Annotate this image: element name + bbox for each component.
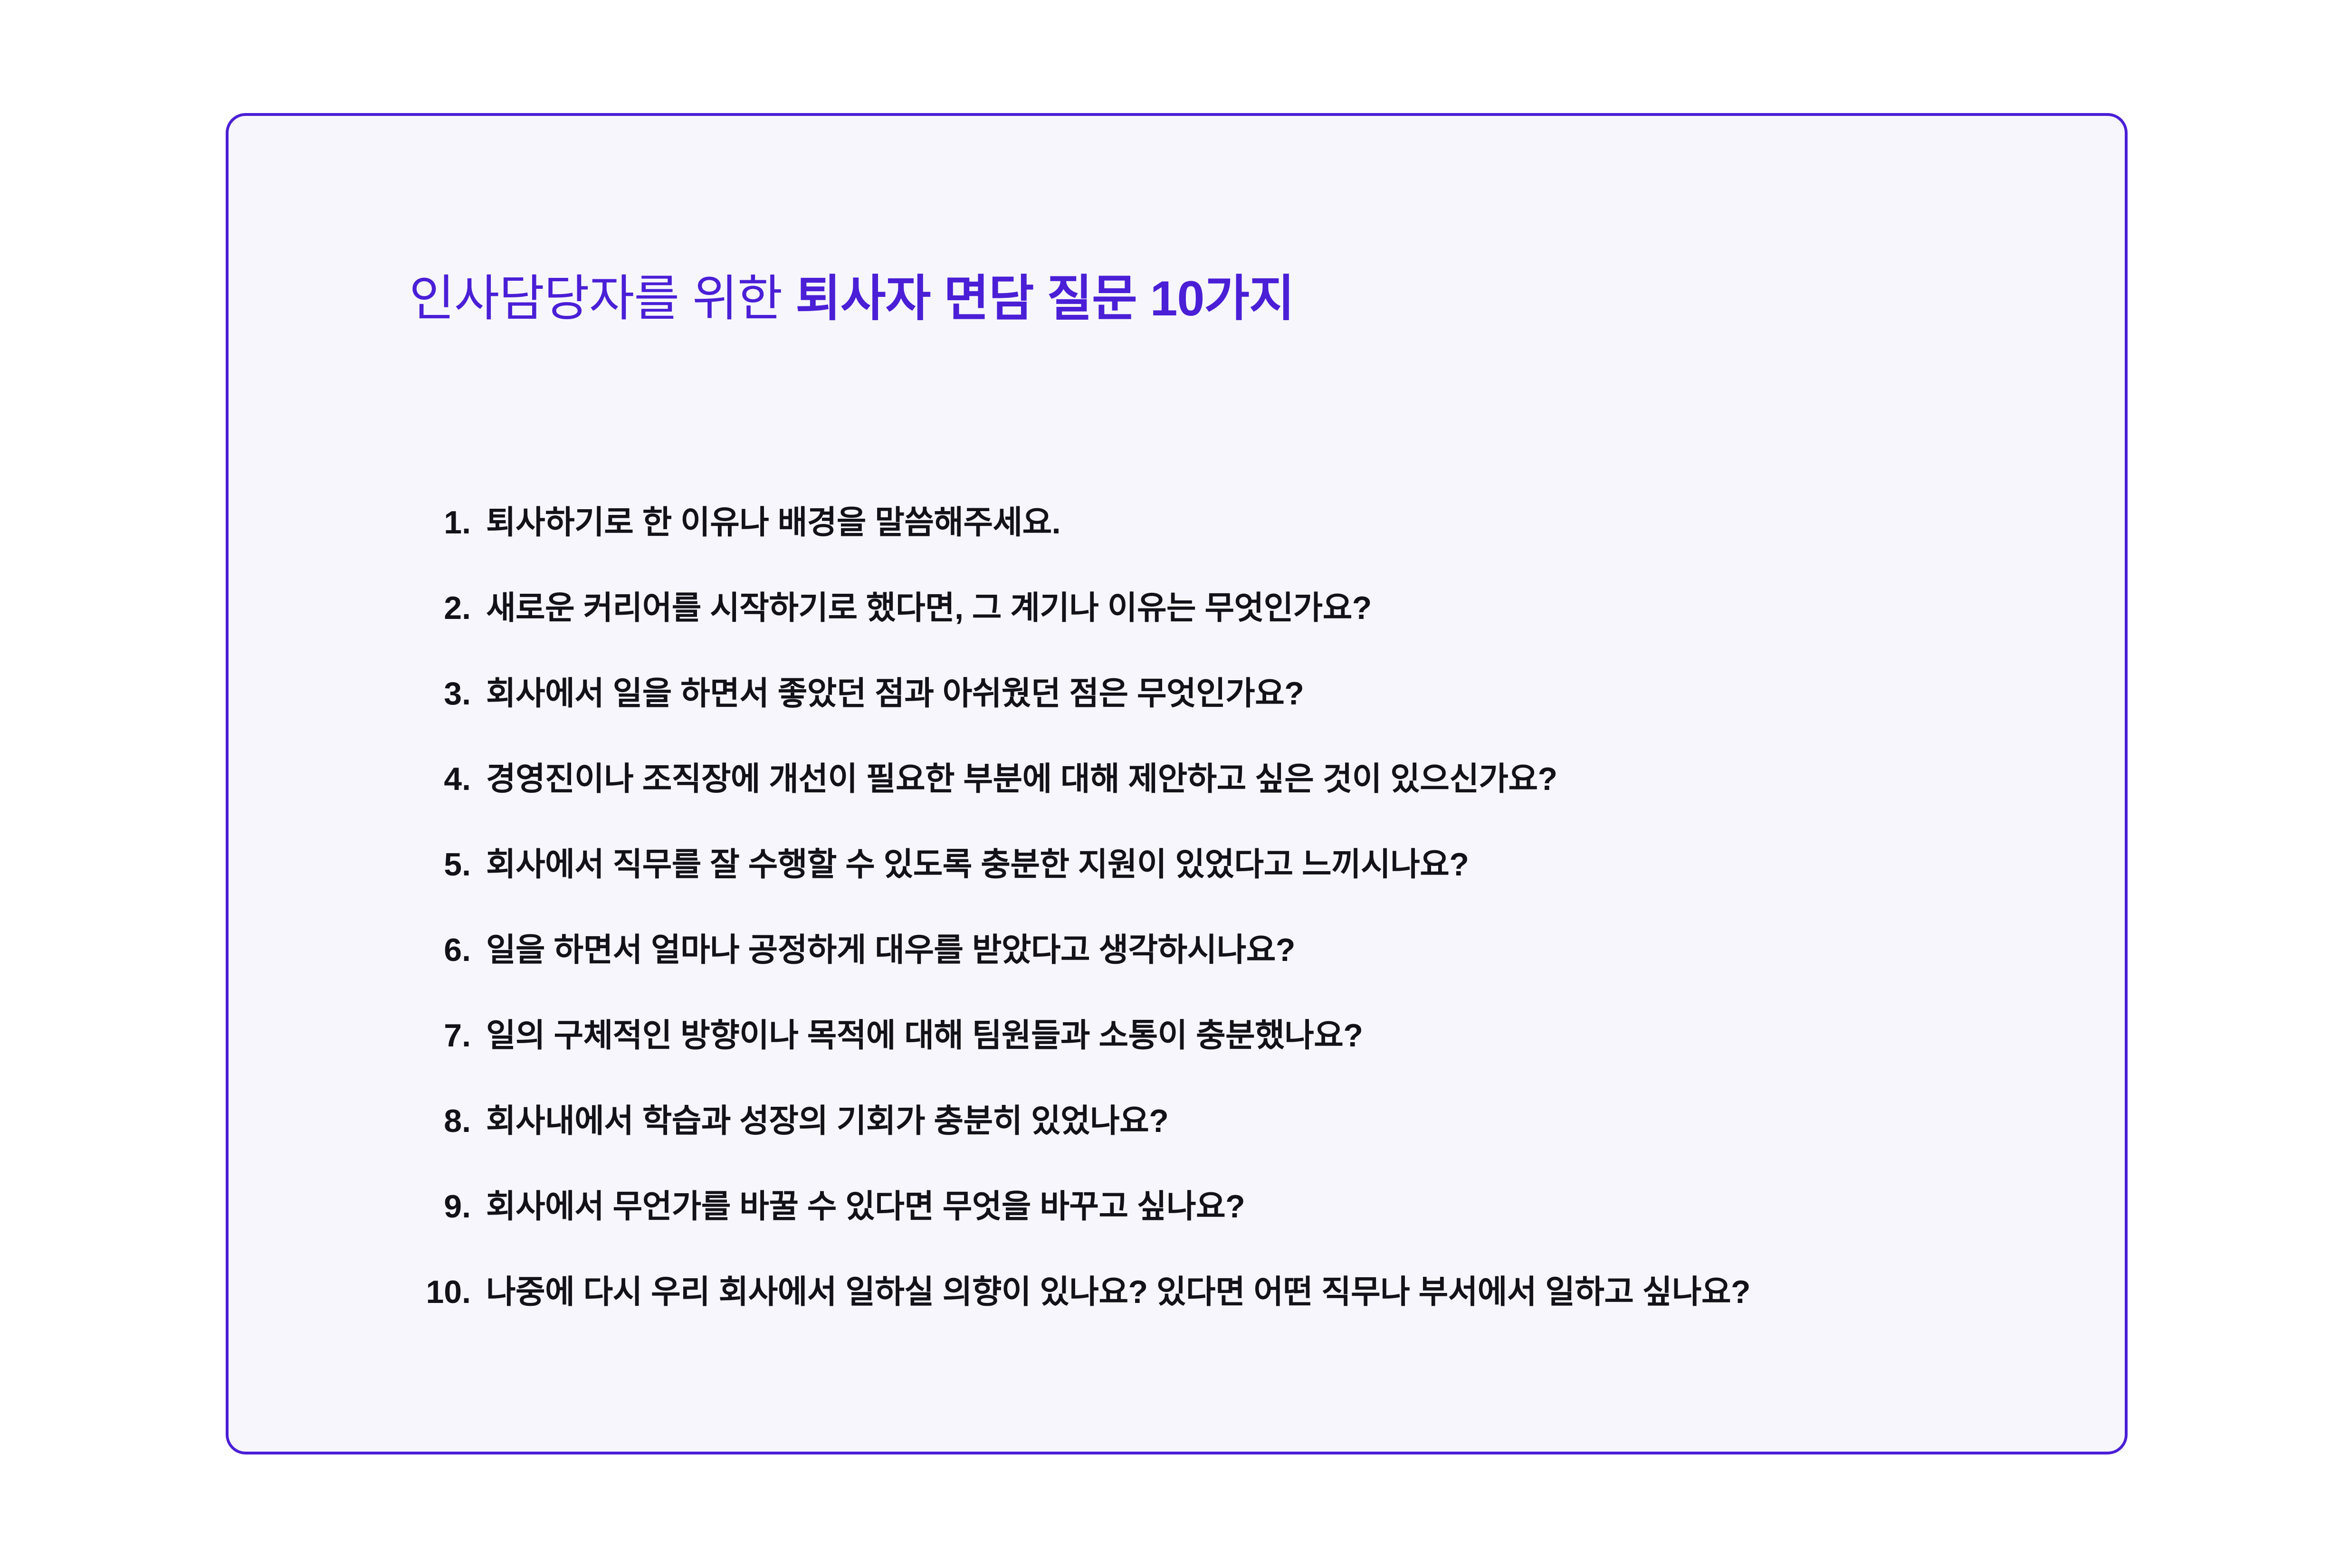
list-item-number: 3. (371, 675, 471, 712)
page-title: 인사담당자를 위한 퇴사자 면담 질문 10가지 (409, 268, 1294, 330)
question-card: 인사담당자를 위한 퇴사자 면담 질문 10가지 1. 퇴사하기로 한 이유나 … (226, 113, 2128, 1454)
list-item-number: 5. (371, 846, 471, 883)
list-item-number: 2. (371, 589, 471, 627)
list-item-text: 나중에 다시 우리 회사에서 일하실 의향이 있나요? 있다면 어떤 직무나 부… (471, 1265, 2082, 1312)
list-item: 6. 일을 하면서 얼마나 공정하게 대우를 받았다고 생각하시나요? (371, 923, 2082, 1009)
list-item: 8. 회사내에서 학습과 성장의 기회가 충분히 있었나요? (371, 1094, 2082, 1180)
list-item: 4. 경영진이나 조직장에 개선이 필요한 부분에 대해 제안하고 싶은 것이 … (371, 752, 2082, 838)
question-list: 1. 퇴사하기로 한 이유나 배경을 말씀해주세요. 2. 새로운 커리어를 시… (371, 496, 2082, 1351)
list-item-number: 10. (371, 1273, 471, 1311)
list-item-text: 회사에서 직무를 잘 수행할 수 있도록 충분한 지원이 있었다고 느끼시나요? (471, 838, 2082, 885)
list-item-text: 일의 구체적인 방향이나 목적에 대해 팀원들과 소통이 충분했나요? (471, 1009, 2082, 1056)
list-item-number: 7. (371, 1017, 471, 1054)
list-item: 3. 회사에서 일을 하면서 좋았던 점과 아쉬웠던 점은 무엇인가요? (371, 667, 2082, 752)
list-item-number: 6. (371, 931, 471, 969)
list-item-number: 4. (371, 760, 471, 798)
page-root: 인사담당자를 위한 퇴사자 면담 질문 10가지 1. 퇴사하기로 한 이유나 … (0, 0, 2349, 1568)
list-item: 10. 나중에 다시 우리 회사에서 일하실 의향이 있나요? 있다면 어떤 직… (371, 1265, 2082, 1351)
list-item-text: 일을 하면서 얼마나 공정하게 대우를 받았다고 생각하시나요? (471, 923, 2082, 970)
list-item-text: 회사에서 무언가를 바꿀 수 있다면 무엇을 바꾸고 싶나요? (471, 1180, 2082, 1227)
list-item-text: 퇴사하기로 한 이유나 배경을 말씀해주세요. (471, 496, 2082, 543)
list-item-number: 8. (371, 1102, 471, 1140)
list-item: 9. 회사에서 무언가를 바꿀 수 있다면 무엇을 바꾸고 싶나요? (371, 1180, 2082, 1265)
list-item-number: 9. (371, 1188, 471, 1225)
list-item: 5. 회사에서 직무를 잘 수행할 수 있도록 충분한 지원이 있었다고 느끼시… (371, 838, 2082, 923)
list-item-text: 회사내에서 학습과 성장의 기회가 충분히 있었나요? (471, 1094, 2082, 1141)
list-item-text: 경영진이나 조직장에 개선이 필요한 부분에 대해 제안하고 싶은 것이 있으신… (471, 752, 2082, 799)
page-title-lead: 인사담당자를 위한 (409, 271, 795, 326)
list-item-text: 회사에서 일을 하면서 좋았던 점과 아쉬웠던 점은 무엇인가요? (471, 667, 2082, 714)
list-item: 1. 퇴사하기로 한 이유나 배경을 말씀해주세요. (371, 496, 2082, 581)
page-title-emphasis: 퇴사자 면담 질문 10가지 (795, 271, 1294, 326)
list-item-text: 새로운 커리어를 시작하기로 했다면, 그 계기나 이유는 무엇인가요? (471, 581, 2082, 628)
list-item: 2. 새로운 커리어를 시작하기로 했다면, 그 계기나 이유는 무엇인가요? (371, 581, 2082, 667)
list-item: 7. 일의 구체적인 방향이나 목적에 대해 팀원들과 소통이 충분했나요? (371, 1009, 2082, 1094)
list-item-number: 1. (371, 504, 471, 541)
